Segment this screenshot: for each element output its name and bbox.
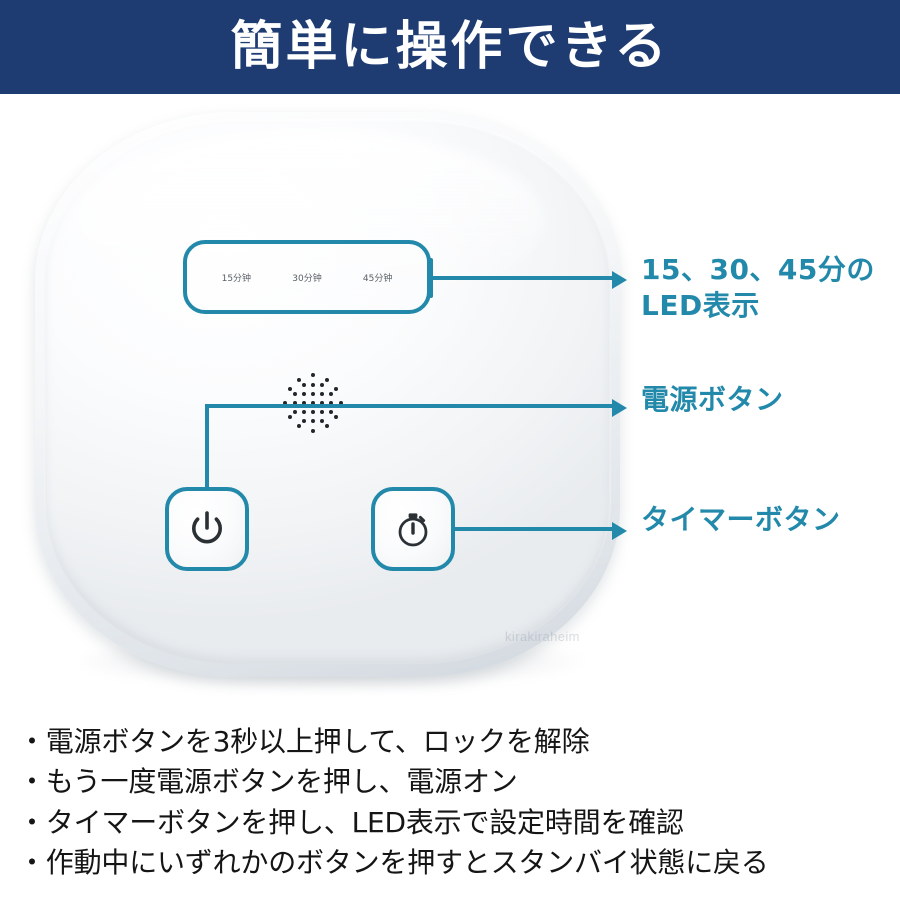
timer-button[interactable] <box>371 487 455 571</box>
instruction-item: ・作動中にいずれかのボタンを押すとスタンバイ状態に戻る <box>18 843 888 883</box>
speaker-dot <box>302 419 306 423</box>
speaker-dot <box>325 424 329 428</box>
power-leader-arrow <box>612 399 627 417</box>
speaker-dot <box>311 392 315 396</box>
timer-leader-line <box>453 527 614 531</box>
timer-leader-arrow <box>612 522 627 540</box>
speaker-dot <box>311 429 315 433</box>
instruction-item: ・タイマーボタンを押し、LED表示で設定時間を確認 <box>18 803 888 843</box>
speaker-dot <box>302 383 306 387</box>
power-leader-vline <box>205 404 209 491</box>
page-title: 簡単に操作できる <box>231 21 670 73</box>
speaker-dot <box>334 387 338 391</box>
annotation-power-button: 電源ボタン <box>641 382 784 418</box>
speaker-dot <box>302 410 306 414</box>
instruction-list: ・電源ボタンを3秒以上押して、ロックを解除 ・もう一度電源ボタンを押し、電源オン… <box>18 722 888 883</box>
led-indicator-panel[interactable]: 15分钟 30分钟 45分钟 <box>183 240 431 314</box>
power-icon <box>186 508 228 550</box>
speaker-dot <box>329 392 333 396</box>
instruction-item: ・もう一度電源ボタンを押し、電源オン <box>18 762 888 802</box>
annotation-led-display: 15、30、45分の LED表示 <box>641 252 875 325</box>
instruction-item: ・電源ボタンを3秒以上押して、ロックを解除 <box>18 722 888 762</box>
speaker-grille <box>278 368 348 438</box>
speaker-dot <box>293 392 297 396</box>
led-label-15: 15分钟 <box>222 271 251 284</box>
speaker-dot <box>293 410 297 414</box>
speaker-dot <box>288 415 292 419</box>
infographic-page: 簡単に操作できる 15分钟 30分钟 45分钟 <box>0 0 900 900</box>
led-label-30: 30分钟 <box>292 271 321 284</box>
annotation-timer-button: タイマーボタン <box>641 502 841 538</box>
led-leader-arrow <box>612 271 627 289</box>
speaker-dot <box>297 424 301 428</box>
speaker-dot <box>329 410 333 414</box>
speaker-dot <box>311 419 315 423</box>
speaker-dot <box>311 373 315 377</box>
speaker-dot <box>320 383 324 387</box>
speaker-dot <box>297 378 301 382</box>
stopwatch-icon <box>392 508 434 550</box>
power-button[interactable] <box>165 487 249 571</box>
speaker-dot <box>320 392 324 396</box>
speaker-dot <box>311 410 315 414</box>
speaker-dot <box>288 387 292 391</box>
speaker-dot <box>325 378 329 382</box>
speaker-dot <box>320 410 324 414</box>
speaker-dot <box>302 392 306 396</box>
speaker-dot <box>320 419 324 423</box>
led-leader-line <box>429 276 614 280</box>
watermark: kirakiraheim <box>505 629 580 644</box>
led-label-45: 45分钟 <box>363 271 392 284</box>
header-banner: 簡単に操作できる <box>0 0 900 94</box>
power-leader-hline <box>205 404 614 408</box>
speaker-dot <box>311 383 315 387</box>
speaker-dot <box>334 415 338 419</box>
